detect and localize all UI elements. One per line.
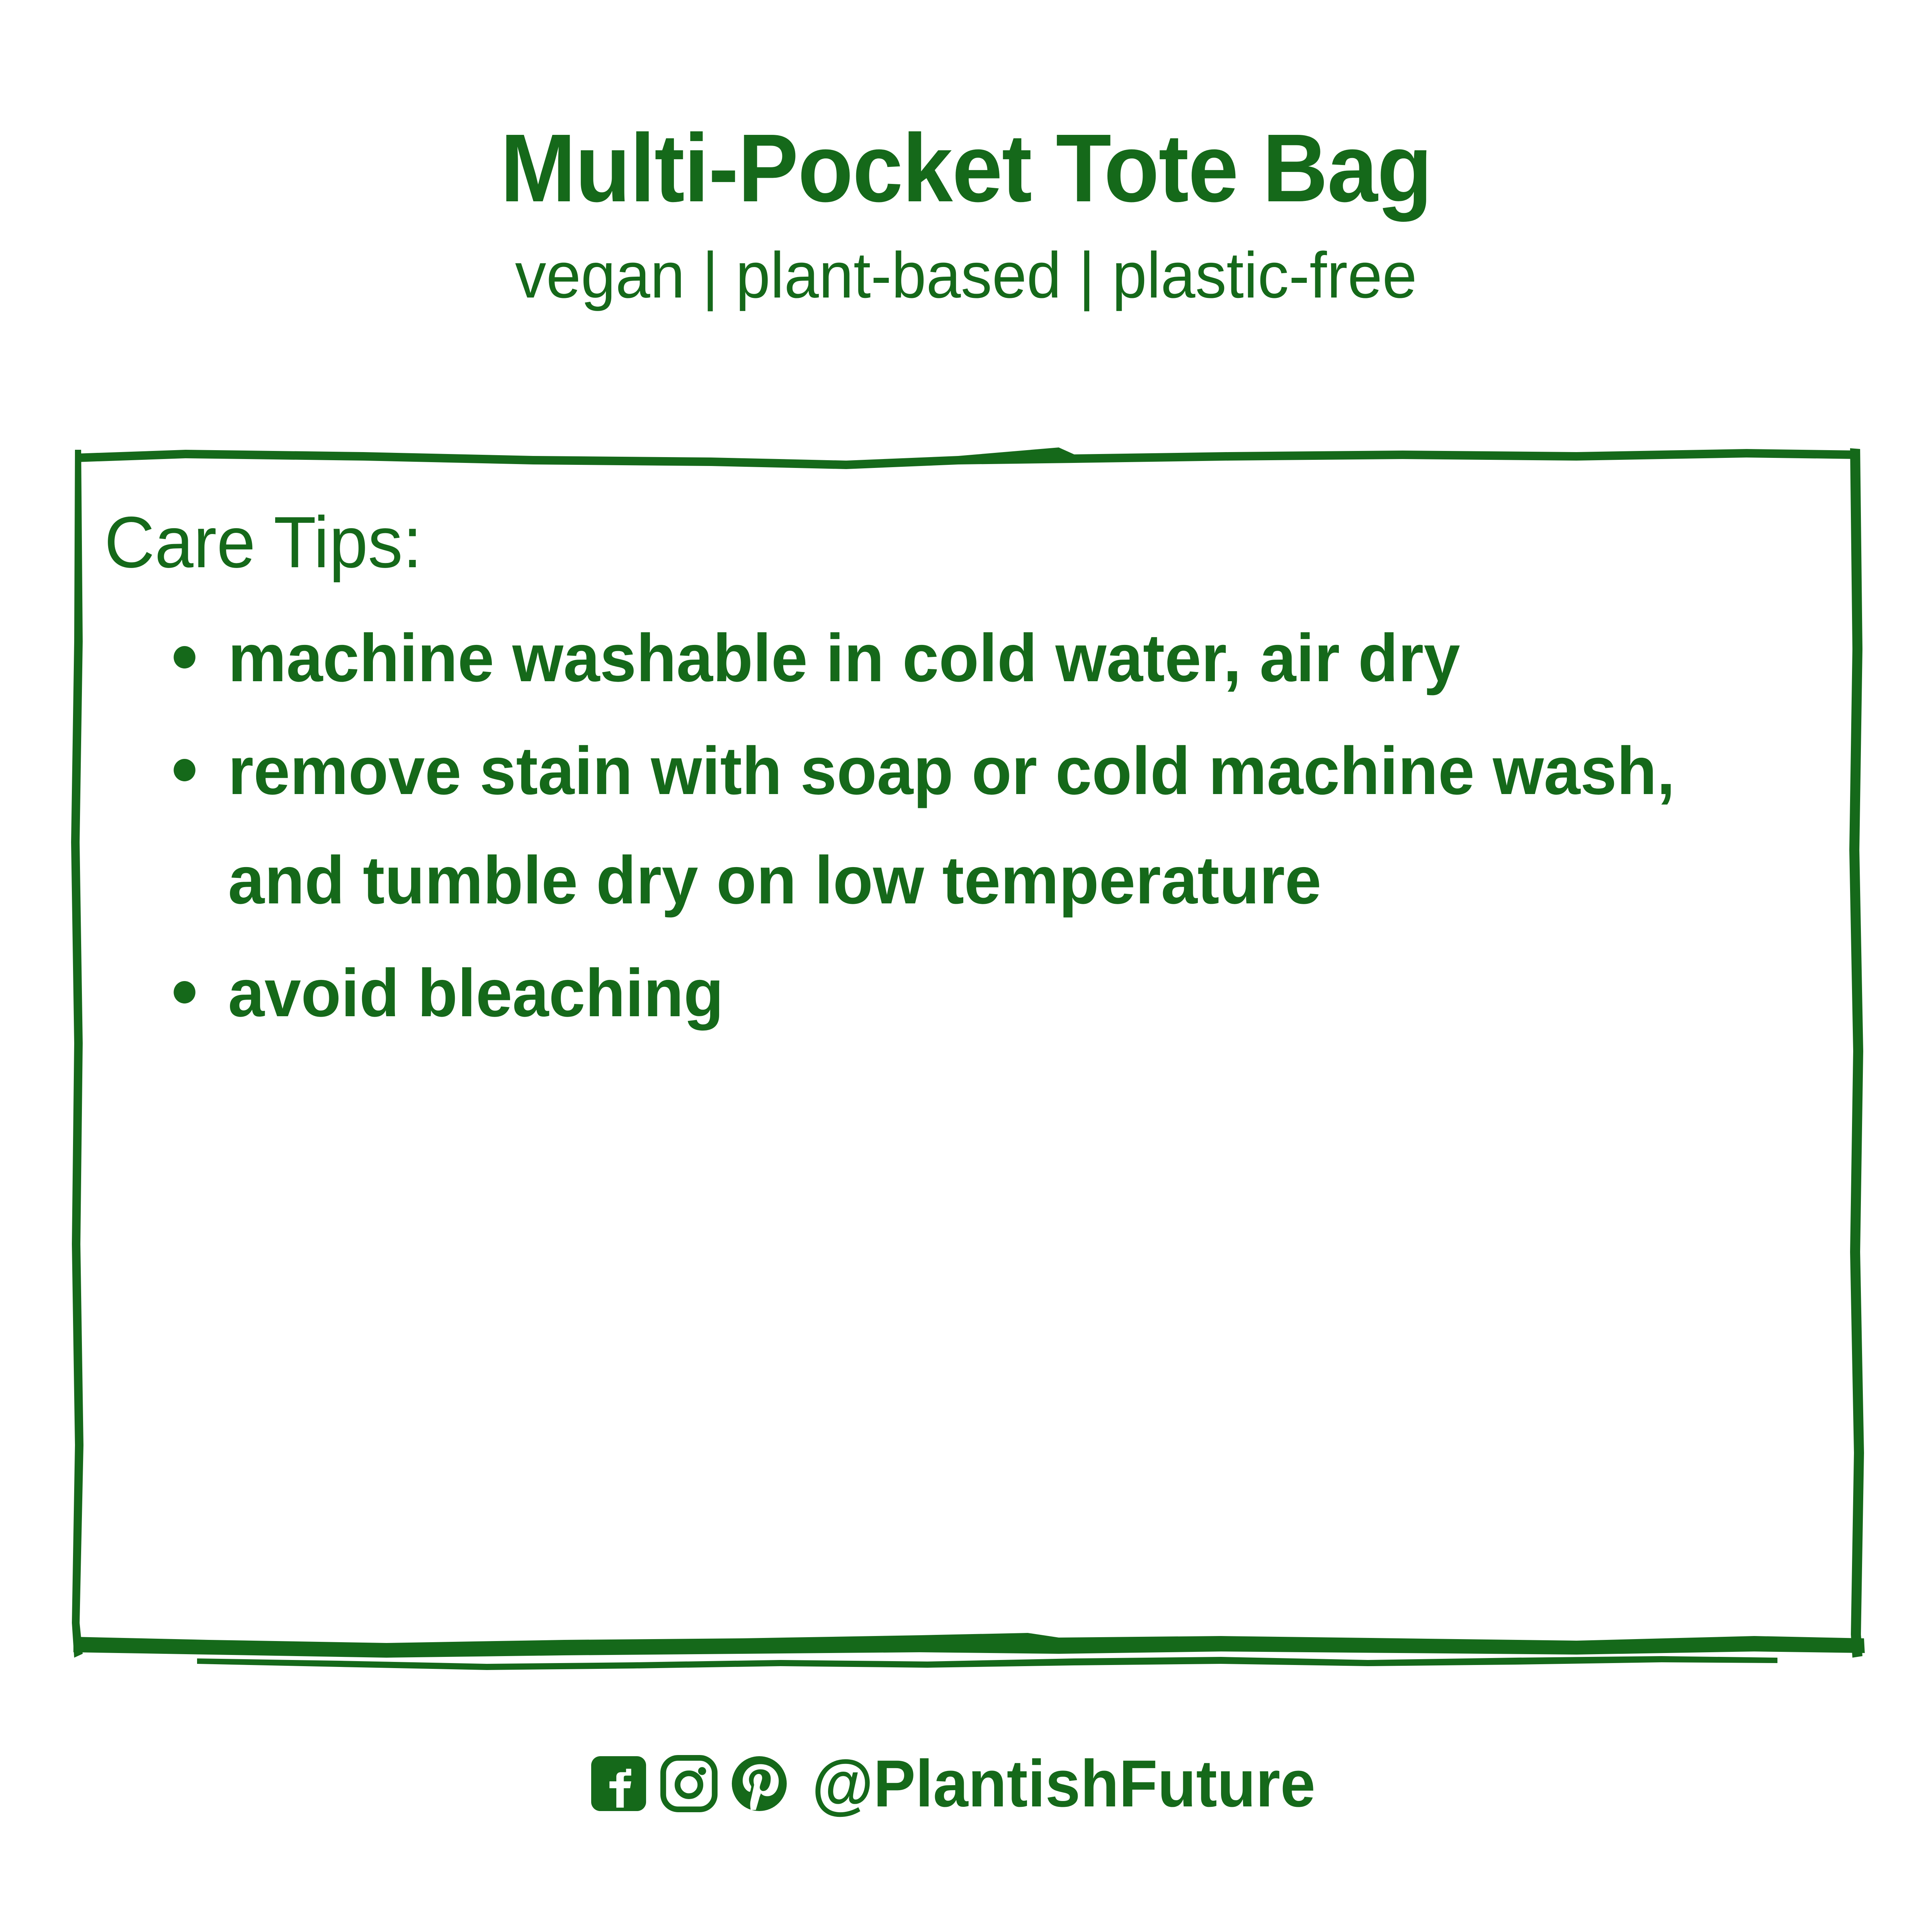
care-tips-heading: Care Tips: xyxy=(104,504,1762,580)
care-card: Multi-Pocket Tote Bag vegan | plant-base… xyxy=(0,0,1932,1932)
list-item-label: remove stain with soap or cold machine w… xyxy=(228,733,1675,918)
bullet-icon xyxy=(173,646,195,668)
pinterest-icon[interactable] xyxy=(731,1755,788,1812)
care-tips-panel: Care Tips: machine washable in cold wate… xyxy=(70,440,1866,1665)
product-tagline: vegan | plant-based | plastic-free xyxy=(39,236,1893,315)
bullet-icon xyxy=(173,981,195,1003)
bullet-icon xyxy=(173,759,195,781)
social-handle[interactable]: @PlantishFuture xyxy=(812,1750,1315,1817)
header: Multi-Pocket Tote Bag vegan | plant-base… xyxy=(0,116,1932,315)
social-links xyxy=(590,1755,788,1812)
list-item-label: machine washable in cold water, air dry xyxy=(228,621,1460,696)
page-title: Multi-Pocket Tote Bag xyxy=(58,116,1874,220)
list-item-label: avoid bleaching xyxy=(228,956,724,1031)
list-item: remove stain with soap or cold machine w… xyxy=(104,716,1780,935)
instagram-icon[interactable] xyxy=(660,1755,718,1812)
facebook-icon[interactable] xyxy=(590,1755,647,1812)
care-tips-content: Care Tips: machine washable in cold wate… xyxy=(104,504,1832,1650)
footer: @PlantishFuture xyxy=(0,1750,1932,1817)
care-tips-list: machine washable in cold water, air dry … xyxy=(104,604,1832,1048)
list-item: machine washable in cold water, air dry xyxy=(104,604,1780,713)
list-item: avoid bleaching xyxy=(104,939,1780,1048)
